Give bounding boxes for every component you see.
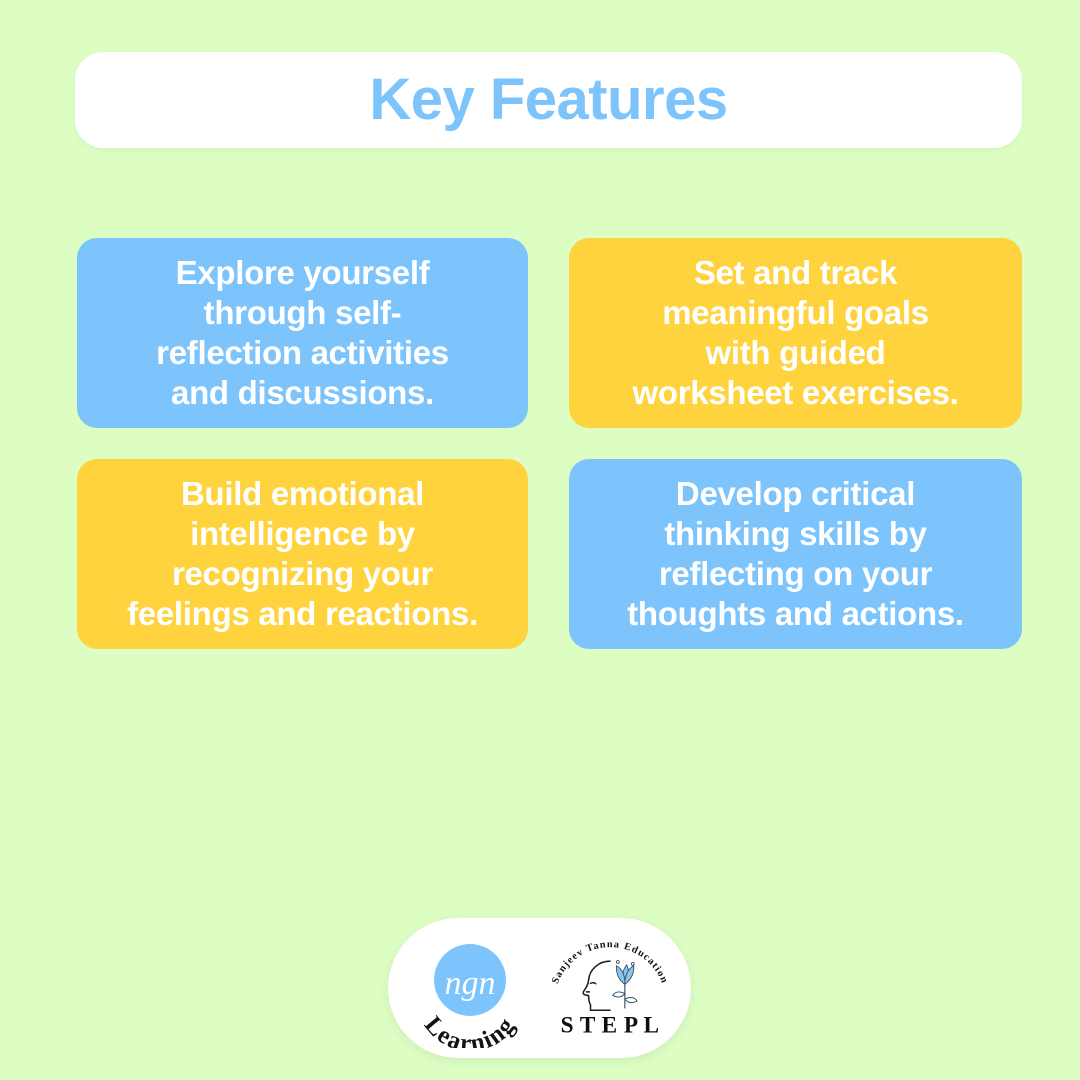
feature-card-text: Build emotional intelligence by recogniz… [127, 474, 478, 635]
feature-cards-grid: Explore yourself through self- reflectio… [77, 238, 1022, 649]
footer-logo-pill: ngn Learning Sanjeev Tanna Education [388, 918, 691, 1058]
stepl-logo: Sanjeev Tanna Education S T E P L [545, 928, 675, 1048]
head-profile-icon [583, 961, 610, 1010]
header-card: Key Features [75, 52, 1022, 148]
stepl-wordmark: S T E P L [560, 1013, 659, 1039]
page-title: Key Features [369, 71, 727, 129]
feature-card-build-emotional-intelligence[interactable]: Build emotional intelligence by recogniz… [77, 459, 528, 649]
ngn-mark-text: ngn [444, 965, 495, 1002]
feature-card-develop-critical-thinking[interactable]: Develop critical thinking skills by refl… [569, 459, 1022, 649]
feature-card-explore-yourself[interactable]: Explore yourself through self- reflectio… [77, 238, 528, 428]
feature-card-text: Develop critical thinking skills by refl… [627, 474, 964, 635]
feature-card-text: Explore yourself through self- reflectio… [156, 253, 449, 414]
feature-card-set-and-track-goals[interactable]: Set and track meaningful goals with guid… [569, 238, 1022, 428]
ngn-learning-logo: ngn Learning [405, 928, 535, 1048]
ngn-arc-label: Learning [418, 1012, 520, 1048]
feature-card-text: Set and track meaningful goals with guid… [632, 253, 958, 414]
tulip-icon [612, 961, 636, 1009]
stepl-arc-label: Sanjeev Tanna Education [550, 939, 670, 985]
